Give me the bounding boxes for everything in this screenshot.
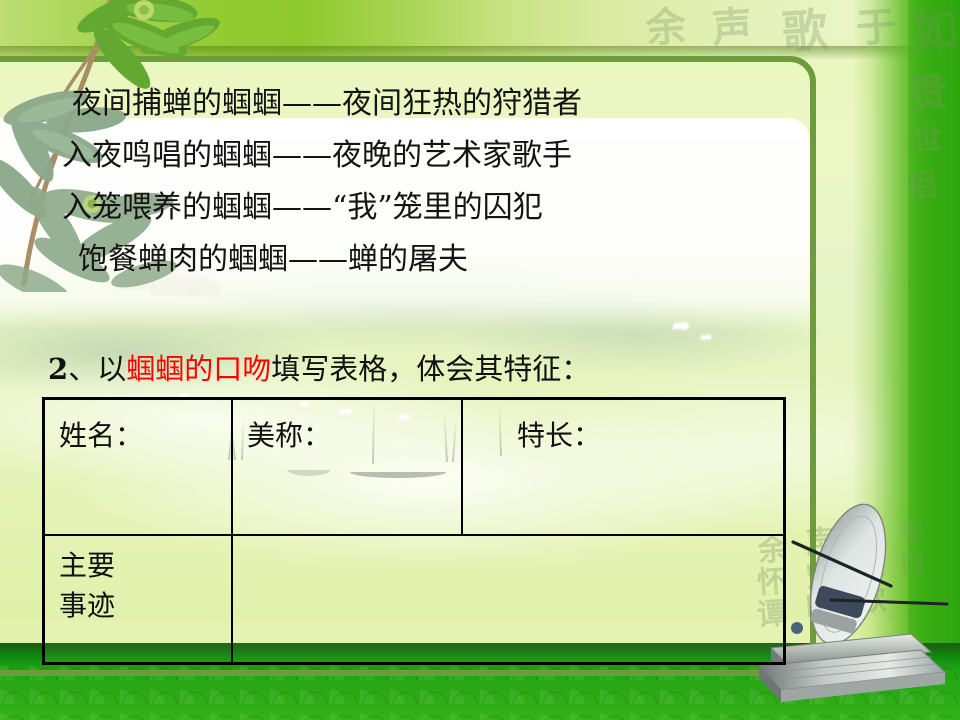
question-line: 2、以蝈蝈的口吻填写表格，体会其特征： bbox=[48, 352, 590, 386]
watermark-glyph: 歌 bbox=[780, 6, 829, 55]
watermark-glyph: 于 bbox=[855, 7, 898, 50]
watermark-glyph: 侣 bbox=[907, 171, 939, 203]
watermark-glyph: 世 bbox=[911, 125, 943, 157]
poem-line-1: 夜间捕蝉的蝈蝈——夜间狂热的狩猎者 bbox=[0, 78, 800, 130]
slide-canvas: ➦ ➦ ➦ ➦ ➦ ➦ 余 声 歌 于 如 贵 世 侣 余 怀 谭 声 空 明 … bbox=[0, 0, 960, 720]
watermark-glyph: 歌 bbox=[851, 521, 883, 553]
poem-text-block: 夜间捕蝉的蝈蝈——夜间狂热的狩猎者 入夜鸣唱的蝈蝈——夜晚的艺术家歌手 入笼喂养… bbox=[0, 78, 800, 286]
table-row-divider bbox=[45, 534, 783, 536]
watermark-glyph: 声 bbox=[711, 7, 754, 50]
poem-line-4: 饱餐蝉肉的蝈蝈——蝉的屠夫 bbox=[0, 234, 800, 286]
table-cell-name-label[interactable]: 姓名： bbox=[59, 416, 143, 456]
watermark-glyph: 余 bbox=[645, 7, 688, 50]
poem-line-3: 入笼喂养的蝈蝈——“我”笼里的囚犯 bbox=[0, 182, 800, 234]
character-table[interactable]: 姓名： 美称： 特长： 主要 事迹 bbox=[42, 397, 786, 665]
watermark-glyph: 于 bbox=[899, 521, 925, 547]
table-cell-skill-label[interactable]: 特长： bbox=[517, 416, 601, 456]
poem-line-2: 入夜鸣唱的蝈蝈——夜晚的艺术家歌手 bbox=[0, 130, 800, 182]
table-column-divider-1 bbox=[231, 400, 233, 665]
question-highlight: 蝈蝈的口吻 bbox=[126, 352, 271, 386]
watermark-glyph: 之 bbox=[859, 555, 885, 581]
watermark-glyph: 曰 bbox=[899, 551, 925, 577]
watermark-glyph: 歌 bbox=[855, 585, 887, 617]
watermark-glyph: 贵 bbox=[907, 73, 950, 116]
question-number: 2 bbox=[48, 352, 68, 386]
watermark-glyph: 如 bbox=[910, 6, 959, 55]
table-cell-deeds-label[interactable]: 主要 事迹 bbox=[59, 546, 115, 626]
question-prefix: 、以 bbox=[68, 352, 126, 386]
table-column-divider-2 bbox=[461, 400, 463, 536]
table-cell-title-label[interactable]: 美称： bbox=[247, 416, 331, 456]
question-tail: 填写表格，体会其特征： bbox=[271, 352, 590, 386]
